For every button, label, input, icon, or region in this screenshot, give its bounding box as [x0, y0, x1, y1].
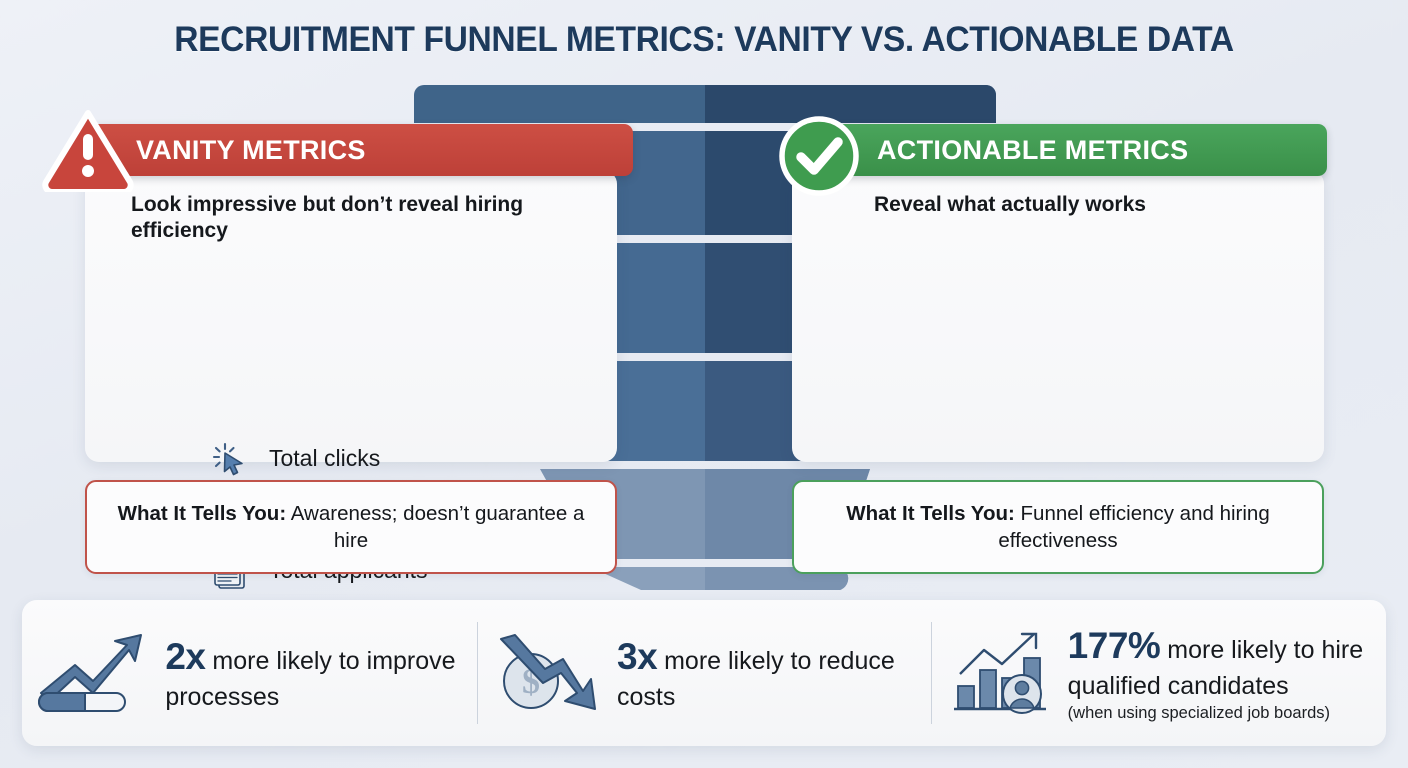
stat-improve-processes: 2x more likely to improve processes: [22, 600, 477, 746]
page-title: RECRUITMENT FUNNEL METRICS: VANITY VS. A…: [28, 20, 1380, 60]
stat-value: 177%: [1068, 625, 1161, 666]
stat-text: 177% more likely to hire qualified candi…: [1068, 622, 1368, 723]
actionable-tells-label: What It Tells You:: [846, 502, 1015, 525]
check-circle-icon: [777, 114, 861, 203]
actionable-tells-text: Funnel efficiency and hiring effectivene…: [998, 502, 1269, 552]
bar-chart-person-icon: [950, 628, 1054, 718]
vanity-banner: VANITY METRICS: [88, 124, 633, 176]
vanity-tells-text: Awareness; doesn’t guarantee a hire: [291, 502, 585, 552]
vanity-metrics-panel: Look impressive but don’t reveal hiring …: [85, 170, 617, 462]
cursor-click-icon: [203, 440, 255, 476]
actionable-tells-box: What It Tells You: Funnel efficiency and…: [792, 480, 1324, 574]
stat-note: (when using specialized job boards): [1068, 703, 1368, 724]
vanity-subtitle: Look impressive but don’t reveal hiring …: [131, 192, 531, 245]
vanity-banner-label: VANITY METRICS: [136, 135, 366, 166]
list-item-label: Total clicks: [269, 445, 380, 472]
funnel-band-0: [414, 85, 996, 123]
upward-trend-arrow-icon: [33, 631, 151, 715]
stat-text: 3x more likely to reduce costs: [617, 633, 917, 712]
stat-value: 2x: [165, 636, 205, 677]
list-item[interactable]: Total clicks: [203, 430, 498, 486]
stat-value: 3x: [617, 636, 657, 677]
stat-text: 2x more likely to improve processes: [165, 633, 465, 712]
stat-hire-qualified: 177% more likely to hire qualified candi…: [931, 600, 1386, 746]
actionable-subtitle: Reveal what actually works: [874, 192, 1304, 218]
stat-reduce-costs: $ 3x more likely to reduce costs: [477, 600, 932, 746]
actionable-banner: ACTIONABLE METRICS: [795, 124, 1327, 176]
actionable-banner-label: ACTIONABLE METRICS: [877, 135, 1188, 166]
warning-triangle-icon: [42, 108, 134, 197]
vanity-tells-box: What It Tells You: Awareness; doesn’t gu…: [85, 480, 617, 574]
stat-description: more likely to reduce costs: [617, 647, 895, 710]
vanity-tells-label: What It Tells You:: [118, 502, 287, 525]
dollar-down-trend-icon: $: [491, 629, 603, 717]
statistics-bar: 2x more likely to improve processes $ 3x…: [22, 600, 1386, 746]
actionable-metrics-panel: Reveal what actually works Interview-to-…: [792, 170, 1324, 462]
stat-description: more likely to improve processes: [165, 647, 455, 710]
